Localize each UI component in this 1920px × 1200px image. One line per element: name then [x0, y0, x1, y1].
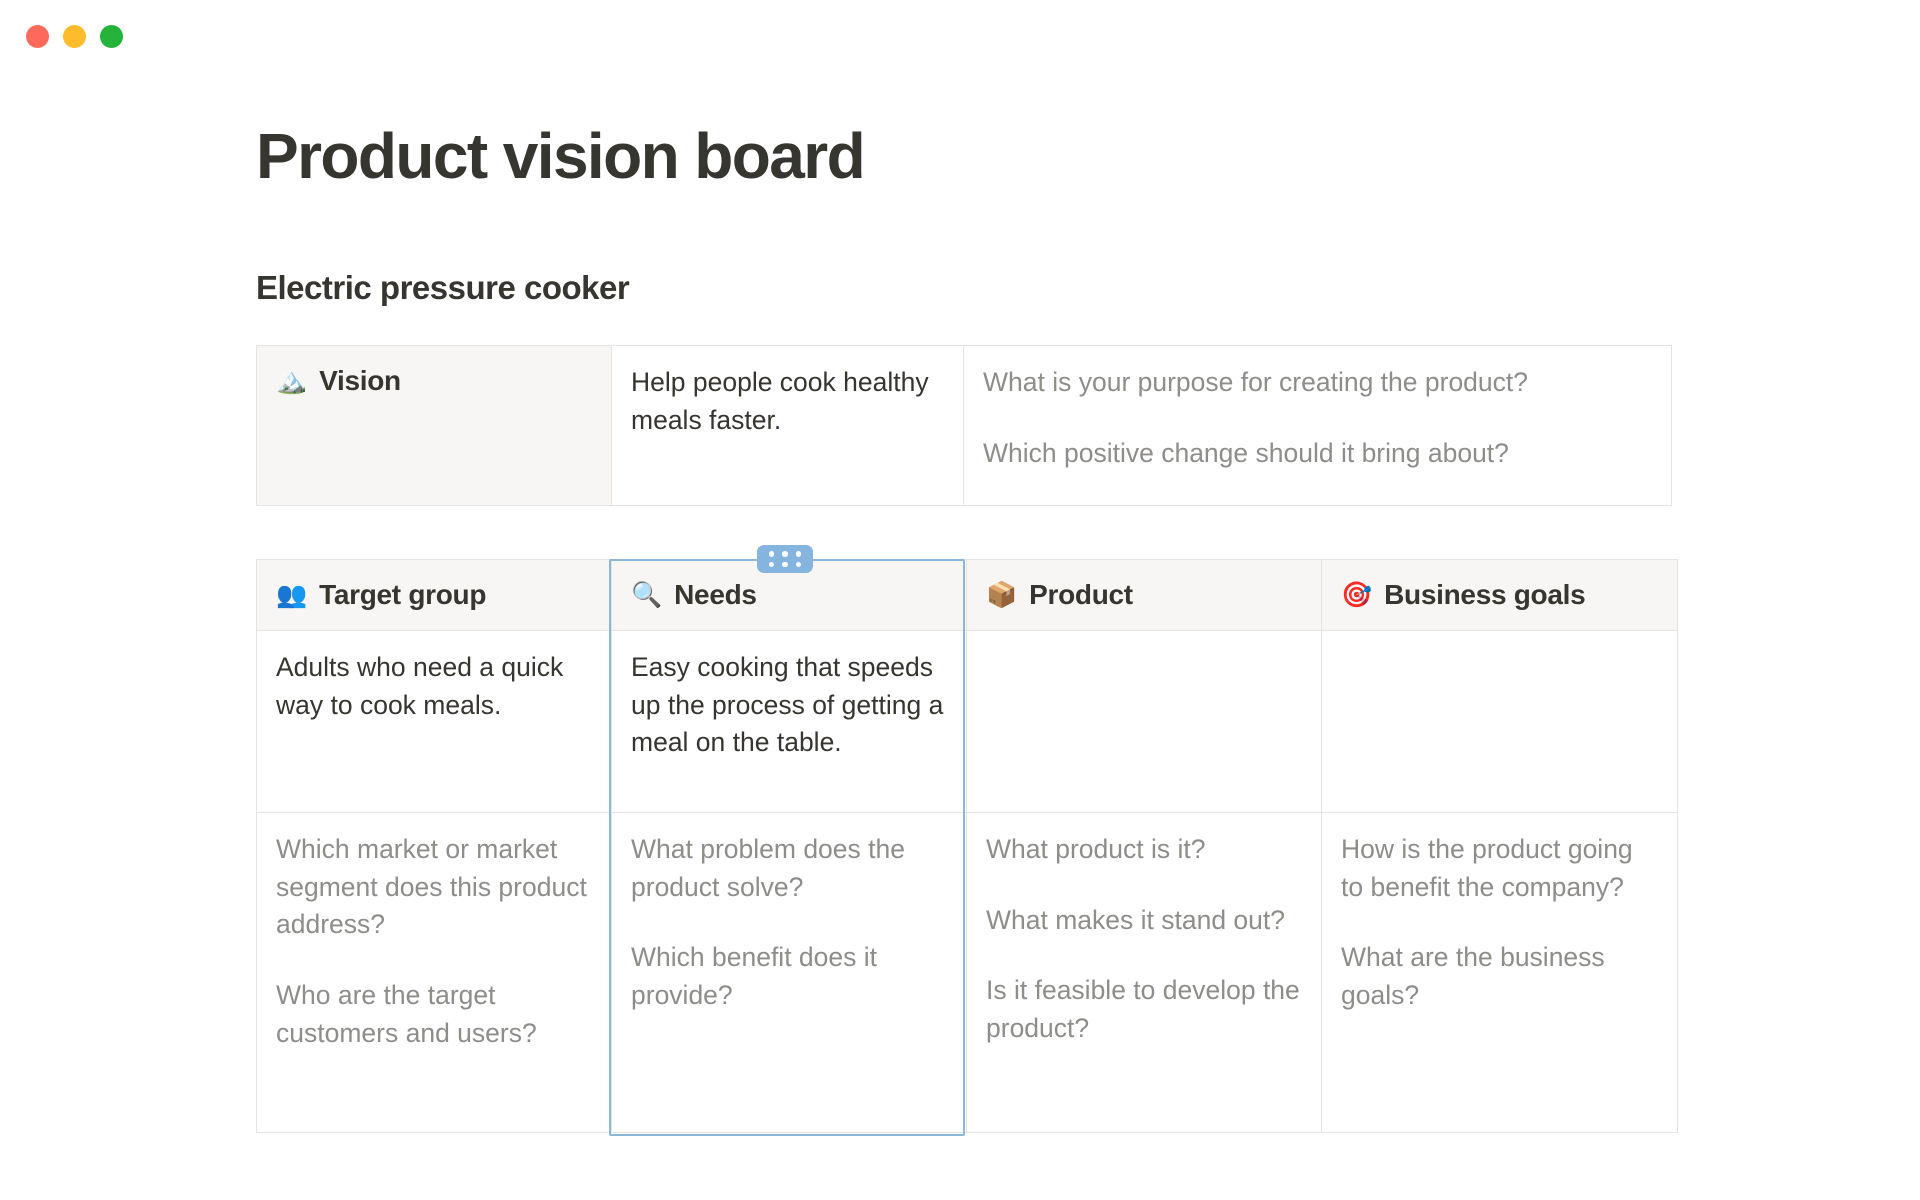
drag-handle-dot [796, 551, 802, 557]
placeholder-line: What are the business goals? [1341, 939, 1658, 1014]
cell-target-group-value[interactable]: Adults who need a quick way to cook meal… [257, 631, 612, 813]
table-header-row: 👥 Target group 🔍 Needs 📦 Product 🎯 [257, 560, 1678, 631]
table-row: 🏔️ Vision Help people cook healthy meals… [257, 346, 1672, 506]
cell-product-placeholder[interactable]: What product is it? What makes it stand … [967, 813, 1322, 1133]
cell-value-text: Adults who need a quick way to cook meal… [276, 649, 592, 724]
drag-handle-dot [769, 551, 775, 557]
vision-table: 🏔️ Vision Help people cook healthy meals… [256, 345, 1672, 506]
column-header-business-goals[interactable]: 🎯 Business goals [1322, 560, 1678, 631]
snow-capped-mountain-emoji: 🏔️ [276, 369, 307, 394]
vision-value-cell[interactable]: Help people cook healthy meals faster. [612, 346, 964, 506]
table-row: Which market or market segment does this… [257, 813, 1678, 1133]
cell-business-goals-placeholder[interactable]: How is the product going to benefit the … [1322, 813, 1678, 1133]
drag-handle-dot [769, 562, 775, 568]
placeholder-line: Which benefit does it provide? [631, 939, 947, 1014]
cell-value-text: Easy cooking that speeds up the process … [631, 649, 947, 762]
page-root: Product vision board Electric pressure c… [0, 0, 1920, 1200]
vision-header-label: Vision [319, 365, 401, 397]
drag-handle-dot [782, 562, 788, 568]
six-dot-drag-handle-icon[interactable] [757, 545, 813, 573]
table-row: Adults who need a quick way to cook meal… [257, 631, 1678, 813]
dart-target-emoji: 🎯 [1341, 583, 1372, 608]
placeholder-line: What makes it stand out? [986, 902, 1302, 940]
placeholder-line: What problem does the product solve? [631, 831, 947, 906]
drag-handle-dot-row [769, 551, 802, 557]
column-header-target-group[interactable]: 👥 Target group [257, 560, 612, 631]
drag-handle-dot-row [769, 562, 802, 568]
column-header-product[interactable]: 📦 Product [967, 560, 1322, 631]
magnifying-glass-emoji: 🔍 [631, 583, 662, 608]
cell-placeholder-text: What problem does the product solve? Whi… [631, 831, 947, 1015]
cell-needs-placeholder[interactable]: What problem does the product solve? Whi… [612, 813, 967, 1133]
vision-placeholder-text: What is your purpose for creating the pr… [983, 364, 1652, 472]
vision-placeholder-cell[interactable]: What is your purpose for creating the pr… [964, 346, 1672, 506]
placeholder-line: Who are the target customers and users? [276, 977, 592, 1052]
cell-target-group-placeholder[interactable]: Which market or market segment does this… [257, 813, 612, 1133]
cell-needs-value[interactable]: Easy cooking that speeds up the process … [612, 631, 967, 813]
column-header-label: Needs [674, 579, 757, 611]
placeholder-line: What is your purpose for creating the pr… [983, 364, 1652, 402]
window-maximize-button[interactable] [100, 25, 123, 48]
vision-value-text: Help people cook healthy meals faster. [631, 364, 944, 439]
busts-in-silhouette-emoji: 👥 [276, 583, 307, 608]
vision-header-cell[interactable]: 🏔️ Vision [257, 346, 612, 506]
cell-placeholder-text: How is the product going to benefit the … [1341, 831, 1658, 1015]
window-titlebar [0, 0, 1920, 72]
window-close-button[interactable] [26, 25, 49, 48]
column-header-label: Target group [319, 579, 486, 611]
placeholder-line: Is it feasible to develop the product? [986, 972, 1302, 1047]
column-header-label: Product [1029, 579, 1133, 611]
placeholder-line: Which positive change should it bring ab… [983, 435, 1652, 473]
placeholder-line: What product is it? [986, 831, 1302, 869]
cell-product-value[interactable] [967, 631, 1322, 813]
placeholder-line: How is the product going to benefit the … [1341, 831, 1658, 906]
cell-business-goals-value[interactable] [1322, 631, 1678, 813]
page-title[interactable]: Product vision board [256, 120, 864, 194]
board-table: 👥 Target group 🔍 Needs 📦 Product 🎯 [256, 559, 1678, 1133]
page-subtitle[interactable]: Electric pressure cooker [256, 268, 629, 308]
package-box-emoji: 📦 [986, 583, 1017, 608]
column-header-label: Business goals [1384, 579, 1585, 611]
cell-placeholder-text: Which market or market segment does this… [276, 831, 592, 1052]
drag-handle-dot [782, 551, 788, 557]
cell-placeholder-text: What product is it? What makes it stand … [986, 831, 1302, 1048]
window-minimize-button[interactable] [63, 25, 86, 48]
placeholder-line: Which market or market segment does this… [276, 831, 592, 944]
drag-handle-dot [796, 562, 802, 568]
